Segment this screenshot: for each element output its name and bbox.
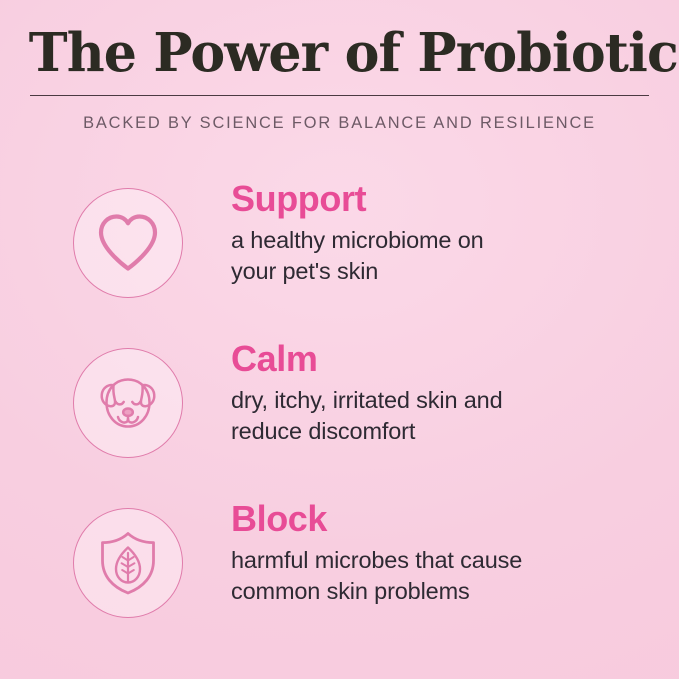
header-divider: [30, 95, 649, 96]
feature-icon-block: [73, 508, 183, 618]
feature-row-block: Block harmful microbes that cause common…: [0, 500, 679, 660]
dog-face-icon: [73, 348, 183, 458]
feature-heading: Calm: [231, 340, 661, 378]
shield-leaf-icon: [73, 508, 183, 618]
feature-row-calm: Calm dry, itchy, irritated skin and redu…: [0, 340, 679, 500]
poster-header: The Power of Probiotics BACKED BY SCIENC…: [0, 26, 679, 133]
heart-icon: [73, 188, 183, 298]
probiotics-benefits-poster: The Power of Probiotics BACKED BY SCIENC…: [0, 0, 679, 679]
page-subtitle: BACKED BY SCIENCE FOR BALANCE AND RESILI…: [0, 114, 679, 133]
feature-body: a healthy microbiome on your pet's skin: [231, 225, 661, 286]
feature-icon-support: [73, 188, 183, 298]
feature-icon-calm: [73, 348, 183, 458]
feature-body: harmful microbes that cause common skin …: [231, 545, 661, 606]
feature-heading: Block: [231, 500, 661, 538]
feature-text-calm: Calm dry, itchy, irritated skin and redu…: [231, 340, 661, 446]
feature-list: Support a healthy microbiome on your pet…: [0, 180, 679, 660]
feature-heading: Support: [231, 180, 661, 218]
feature-body: dry, itchy, irritated skin and reduce di…: [231, 385, 661, 446]
feature-text-support: Support a healthy microbiome on your pet…: [231, 180, 661, 286]
feature-row-support: Support a healthy microbiome on your pet…: [0, 180, 679, 340]
page-title: The Power of Probiotics: [5, 26, 674, 80]
feature-text-block: Block harmful microbes that cause common…: [231, 500, 661, 606]
